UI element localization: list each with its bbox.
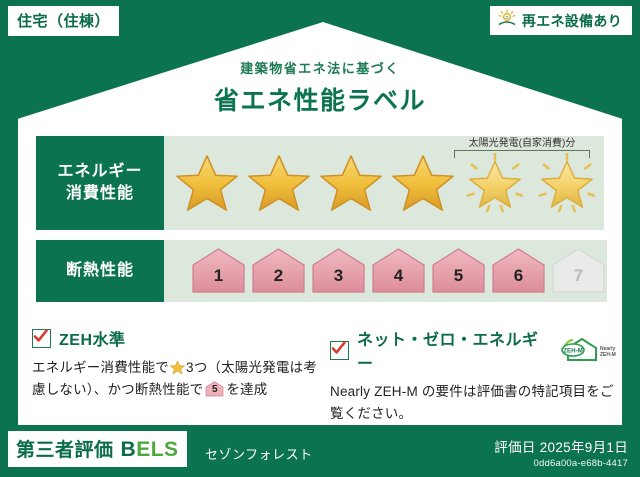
- insulation-badge-number: 5: [205, 381, 224, 397]
- bels-mark-b: B: [121, 438, 137, 461]
- insulation-performance-row: 断熱性能 1 2 3 4: [36, 240, 604, 302]
- criteria-net-zero: ネット・ゼロ・エネルギー ZEH-M Nearly ZEH-M Nearly Z…: [330, 326, 618, 425]
- insulation-level-number: 2: [250, 266, 307, 286]
- insulation-level-2: 2: [250, 247, 307, 295]
- energy-performance-row: エネルギー 消費性能 太陽光発電(自家消費)分: [36, 136, 604, 230]
- criteria-zeh: ZEH水準 エネルギー消費性能で3つ（太陽光発電は考慮しない）、かつ断熱性能で5…: [32, 326, 322, 401]
- document-type-tag: 住宅（住棟）: [8, 6, 119, 36]
- insulation-level-number: 1: [190, 266, 247, 286]
- star-filled: [316, 150, 386, 216]
- check-icon: [32, 329, 51, 348]
- criteria-zeh-title: ZEH水準: [59, 326, 126, 350]
- svg-text:ZEH-M: ZEH-M: [600, 352, 616, 358]
- bels-mark: BELS: [121, 438, 179, 462]
- solar-bracket-label: 太陽光発電(自家消費)分: [448, 138, 596, 149]
- insulation-level-1: 1: [190, 247, 247, 295]
- footer: 第三者評価 BELS セゾンフォレスト 評価日 2025年9月1日 0dd6a0…: [0, 425, 640, 477]
- insulation-level-6: 6: [490, 247, 547, 295]
- gold-star-icon: [170, 360, 185, 375]
- insulation-level-number: 7: [550, 266, 607, 286]
- criteria-zeh-text-3: を達成: [226, 382, 267, 397]
- svg-text:ZEH-M: ZEH-M: [563, 348, 583, 355]
- energy-label-card: 住宅（住棟） D 再エネ設備あり 建築物省エネ法に基づく 省エネ性能ラベル: [0, 0, 640, 477]
- page-title: 省エネ性能ラベル: [0, 81, 640, 117]
- criteria-net-zero-body: Nearly ZEH-M の要件は評価書の特記項目をご覧ください。: [330, 381, 618, 425]
- insulation-level-number: 4: [370, 266, 427, 286]
- building-name: セゾンフォレスト: [205, 444, 313, 463]
- energy-performance-value: 太陽光発電(自家消費)分: [164, 136, 604, 230]
- renewable-energy-badge: D 再エネ設備あり: [490, 6, 632, 35]
- insulation-level-7: 7: [550, 247, 607, 295]
- label-id: 0dd6a00a-e68b-4417: [494, 458, 628, 469]
- insulation-performance-label: 断熱性能: [36, 240, 164, 302]
- star-rating: [164, 150, 604, 216]
- insulation-badge-icon: 5: [205, 381, 224, 397]
- star-filled: [388, 150, 458, 216]
- bels-mark-els: ELS: [136, 438, 178, 461]
- bels-plate: 第三者評価 BELS: [8, 431, 187, 467]
- insulation-level-3: 3: [310, 247, 367, 295]
- check-icon: [330, 341, 349, 360]
- star-filled: [172, 150, 242, 216]
- insulation-level-scale: 1 2 3 4 5: [164, 247, 607, 295]
- insulation-level-4: 4: [370, 247, 427, 295]
- star-filled: [244, 150, 314, 216]
- insulation-level-number: 5: [430, 266, 487, 286]
- solar-sun-icon: D: [497, 9, 517, 32]
- criteria-zeh-header: ZEH水準: [32, 326, 322, 350]
- bels-title: 第三者評価: [16, 435, 114, 462]
- star-solar: [532, 150, 602, 216]
- insulation-level-number: 3: [310, 266, 367, 286]
- criteria-net-zero-title: ネット・ゼロ・エネルギー: [357, 326, 548, 374]
- insulation-performance-value: 1 2 3 4 5: [164, 240, 607, 302]
- title-subtitle: 建築物省エネ法に基づく: [0, 58, 640, 77]
- criteria-zeh-text-1: エネルギー消費性能で: [32, 360, 169, 375]
- energy-performance-label: エネルギー 消費性能: [36, 136, 164, 230]
- footer-meta: 評価日 2025年9月1日 0dd6a00a-e68b-4417: [494, 436, 628, 469]
- insulation-level-number: 6: [490, 266, 547, 286]
- star-solar: [460, 150, 530, 216]
- criteria-zeh-body: エネルギー消費性能で3つ（太陽光発電は考慮しない）、かつ断熱性能で5を達成: [32, 357, 322, 401]
- insulation-level-5: 5: [430, 247, 487, 295]
- title-block: 建築物省エネ法に基づく 省エネ性能ラベル: [0, 58, 640, 117]
- zeh-m-logo: ZEH-M Nearly ZEH-M: [560, 337, 618, 363]
- evaluation-date: 評価日 2025年9月1日: [494, 436, 628, 456]
- renewable-badge-label: 再エネ設備あり: [522, 11, 622, 31]
- criteria-net-zero-header: ネット・ゼロ・エネルギー ZEH-M Nearly ZEH-M: [330, 326, 618, 374]
